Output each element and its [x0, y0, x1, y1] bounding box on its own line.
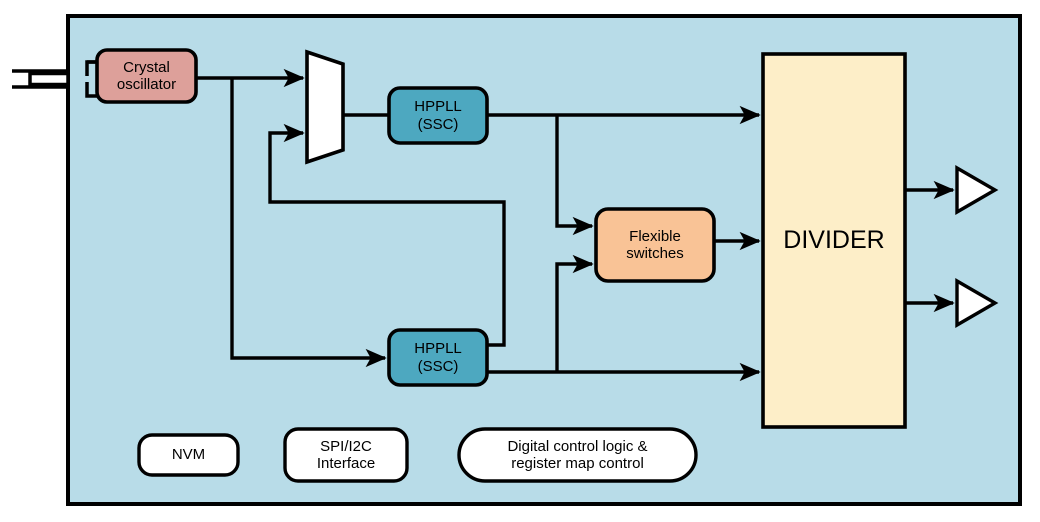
divider-block[interactable]	[763, 54, 905, 427]
hppll-top-block[interactable]	[389, 88, 487, 143]
nvm-block[interactable]	[139, 435, 238, 475]
crystal-oscillator-block[interactable]	[97, 50, 196, 102]
digital-control-logic-block[interactable]	[459, 429, 696, 481]
spi-i2c-interface-block[interactable]	[285, 429, 407, 481]
hppll-bottom-block[interactable]	[389, 330, 487, 385]
input-mux[interactable]	[307, 52, 343, 162]
diagram-svg	[0, 0, 1040, 522]
flexible-switches-block[interactable]	[596, 209, 714, 281]
block-diagram-canvas: Crystal oscillator HPPLL (SSC) HPPLL (SS…	[0, 0, 1040, 522]
